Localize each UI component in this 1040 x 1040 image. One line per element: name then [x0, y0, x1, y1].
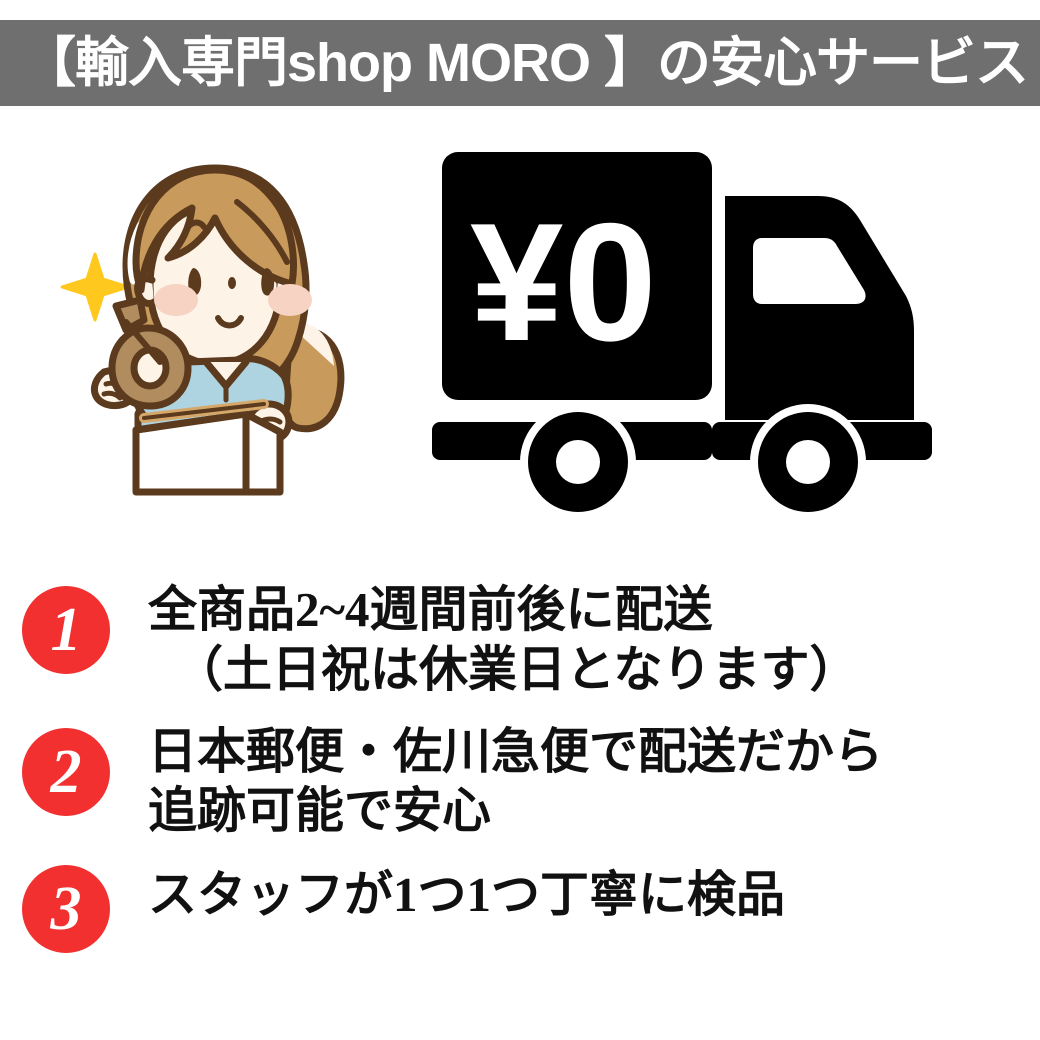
benefit-1-line-1: 全商品2~4週間前後に配送	[148, 582, 712, 637]
benefit-2-line-2: 追跡可能で安心	[148, 781, 1040, 841]
promo-banner-page: 【輸入専門shop MORO 】の安心サービス	[0, 0, 1040, 1040]
truck-cab	[725, 196, 914, 420]
benefit-badge-3: 3	[22, 865, 110, 953]
staff-packing-box-illustration	[40, 140, 390, 520]
benefit-item-2: 2 日本郵便・佐川急便で配送だから 追跡可能で安心	[0, 722, 1040, 842]
cheek-right	[268, 284, 312, 316]
cheek-left	[154, 284, 198, 316]
illustration-zone: ¥0	[0, 130, 1040, 530]
truck-amount-label: ¥0	[470, 188, 657, 376]
benefit-text-1: 全商品2~4週間前後に配送 （土日祝は休業日となります）	[148, 580, 1040, 700]
page-title: 【輸入専門shop MORO 】の安心サービス	[0, 20, 1028, 106]
benefit-1-line-2: （土日祝は休業日となります）	[148, 640, 1040, 700]
benefit-badge-1: 1	[22, 586, 110, 674]
benefits-list: 1 全商品2~4週間前後に配送 （土日祝は休業日となります） 2 日本郵便・佐川…	[0, 548, 1040, 953]
benefit-text-2: 日本郵便・佐川急便で配送だから 追跡可能で安心	[148, 722, 1040, 842]
benefit-2-line-1: 日本郵便・佐川急便で配送だから	[148, 724, 883, 779]
delivery-truck-illustration: ¥0	[420, 140, 1000, 520]
benefit-item-1: 1 全商品2~4週間前後に配送 （土日祝は休業日となります）	[0, 580, 1040, 700]
benefit-badge-2: 2	[22, 728, 110, 816]
benefit-3-line-1: スタッフが1つ1つ丁寧に検品	[148, 867, 785, 922]
header-banner: 【輸入専門shop MORO 】の安心サービス	[0, 20, 1040, 106]
benefit-text-3: スタッフが1つ1つ丁寧に検品	[148, 865, 1040, 925]
benefit-item-3: 3 スタッフが1つ1つ丁寧に検品	[0, 865, 1040, 953]
